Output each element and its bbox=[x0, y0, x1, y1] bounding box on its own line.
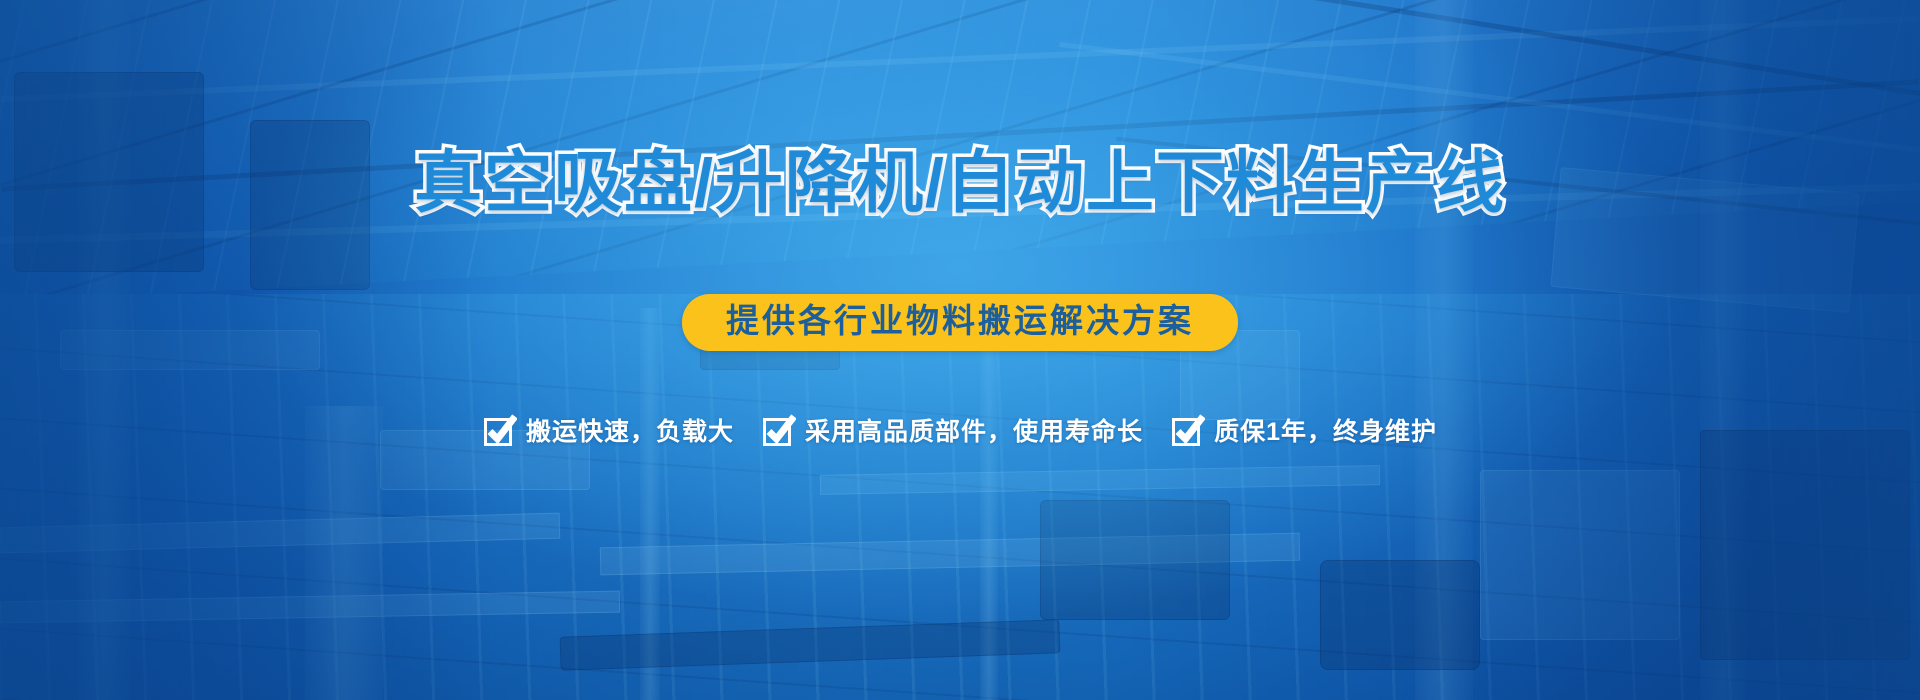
subtitle-badge: 提供各行业物料搬运解决方案 bbox=[682, 294, 1238, 351]
banner-content: 真空吸盘/升降机/自动上下料生产线 提供各行业物料搬运解决方案 搬运快速，负载大 bbox=[0, 0, 1920, 700]
feature-item: 质保1年，终身维护 bbox=[1171, 412, 1437, 448]
checkbox-check-icon bbox=[483, 413, 517, 447]
feature-item: 搬运快速，负载大 bbox=[483, 412, 734, 448]
feature-label: 搬运快速，负载大 bbox=[526, 412, 734, 448]
badge-row: 提供各行业物料搬运解决方案 bbox=[0, 294, 1920, 351]
feature-label: 采用高品质部件，使用寿命长 bbox=[805, 412, 1143, 448]
checkbox-check-icon bbox=[1171, 413, 1205, 447]
feature-list: 搬运快速，负载大 采用高品质部件，使用寿命长 bbox=[0, 412, 1920, 448]
hero-banner: 真空吸盘/升降机/自动上下料生产线 提供各行业物料搬运解决方案 搬运快速，负载大 bbox=[0, 0, 1920, 700]
banner-title: 真空吸盘/升降机/自动上下料生产线 bbox=[0, 127, 1920, 226]
checkbox-check-icon bbox=[762, 413, 796, 447]
feature-label: 质保1年，终身维护 bbox=[1214, 412, 1437, 448]
feature-item: 采用高品质部件，使用寿命长 bbox=[762, 412, 1143, 448]
